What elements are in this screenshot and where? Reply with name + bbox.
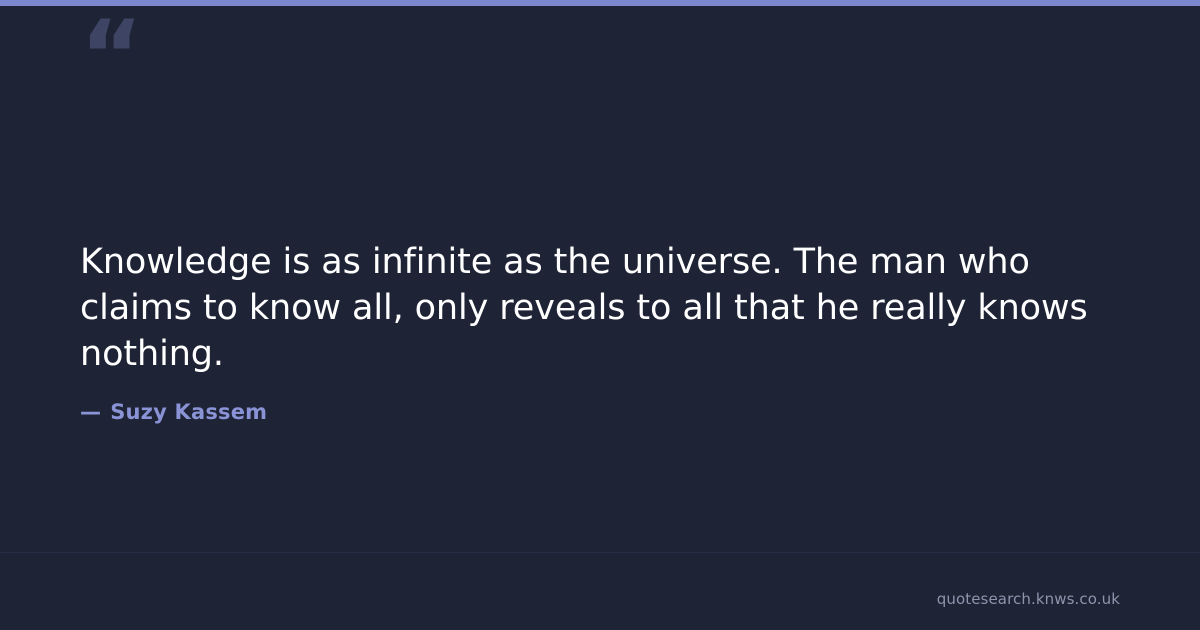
opening-quotation-mark-icon: “ (80, 8, 141, 104)
site-watermark: quotesearch.knws.co.uk (937, 590, 1120, 608)
quote-attribution: —Suzy Kassem (80, 378, 1125, 424)
quote-card: “ Knowledge is as infinite as the univer… (0, 0, 1200, 630)
quote-body: Knowledge is as infinite as the universe… (80, 240, 1125, 424)
top-accent-bar (0, 0, 1200, 6)
quote-author-name: Suzy Kassem (110, 400, 267, 424)
attribution-dash: — (80, 400, 110, 424)
footer-divider (0, 552, 1200, 553)
quote-text: Knowledge is as infinite as the universe… (80, 240, 1125, 378)
